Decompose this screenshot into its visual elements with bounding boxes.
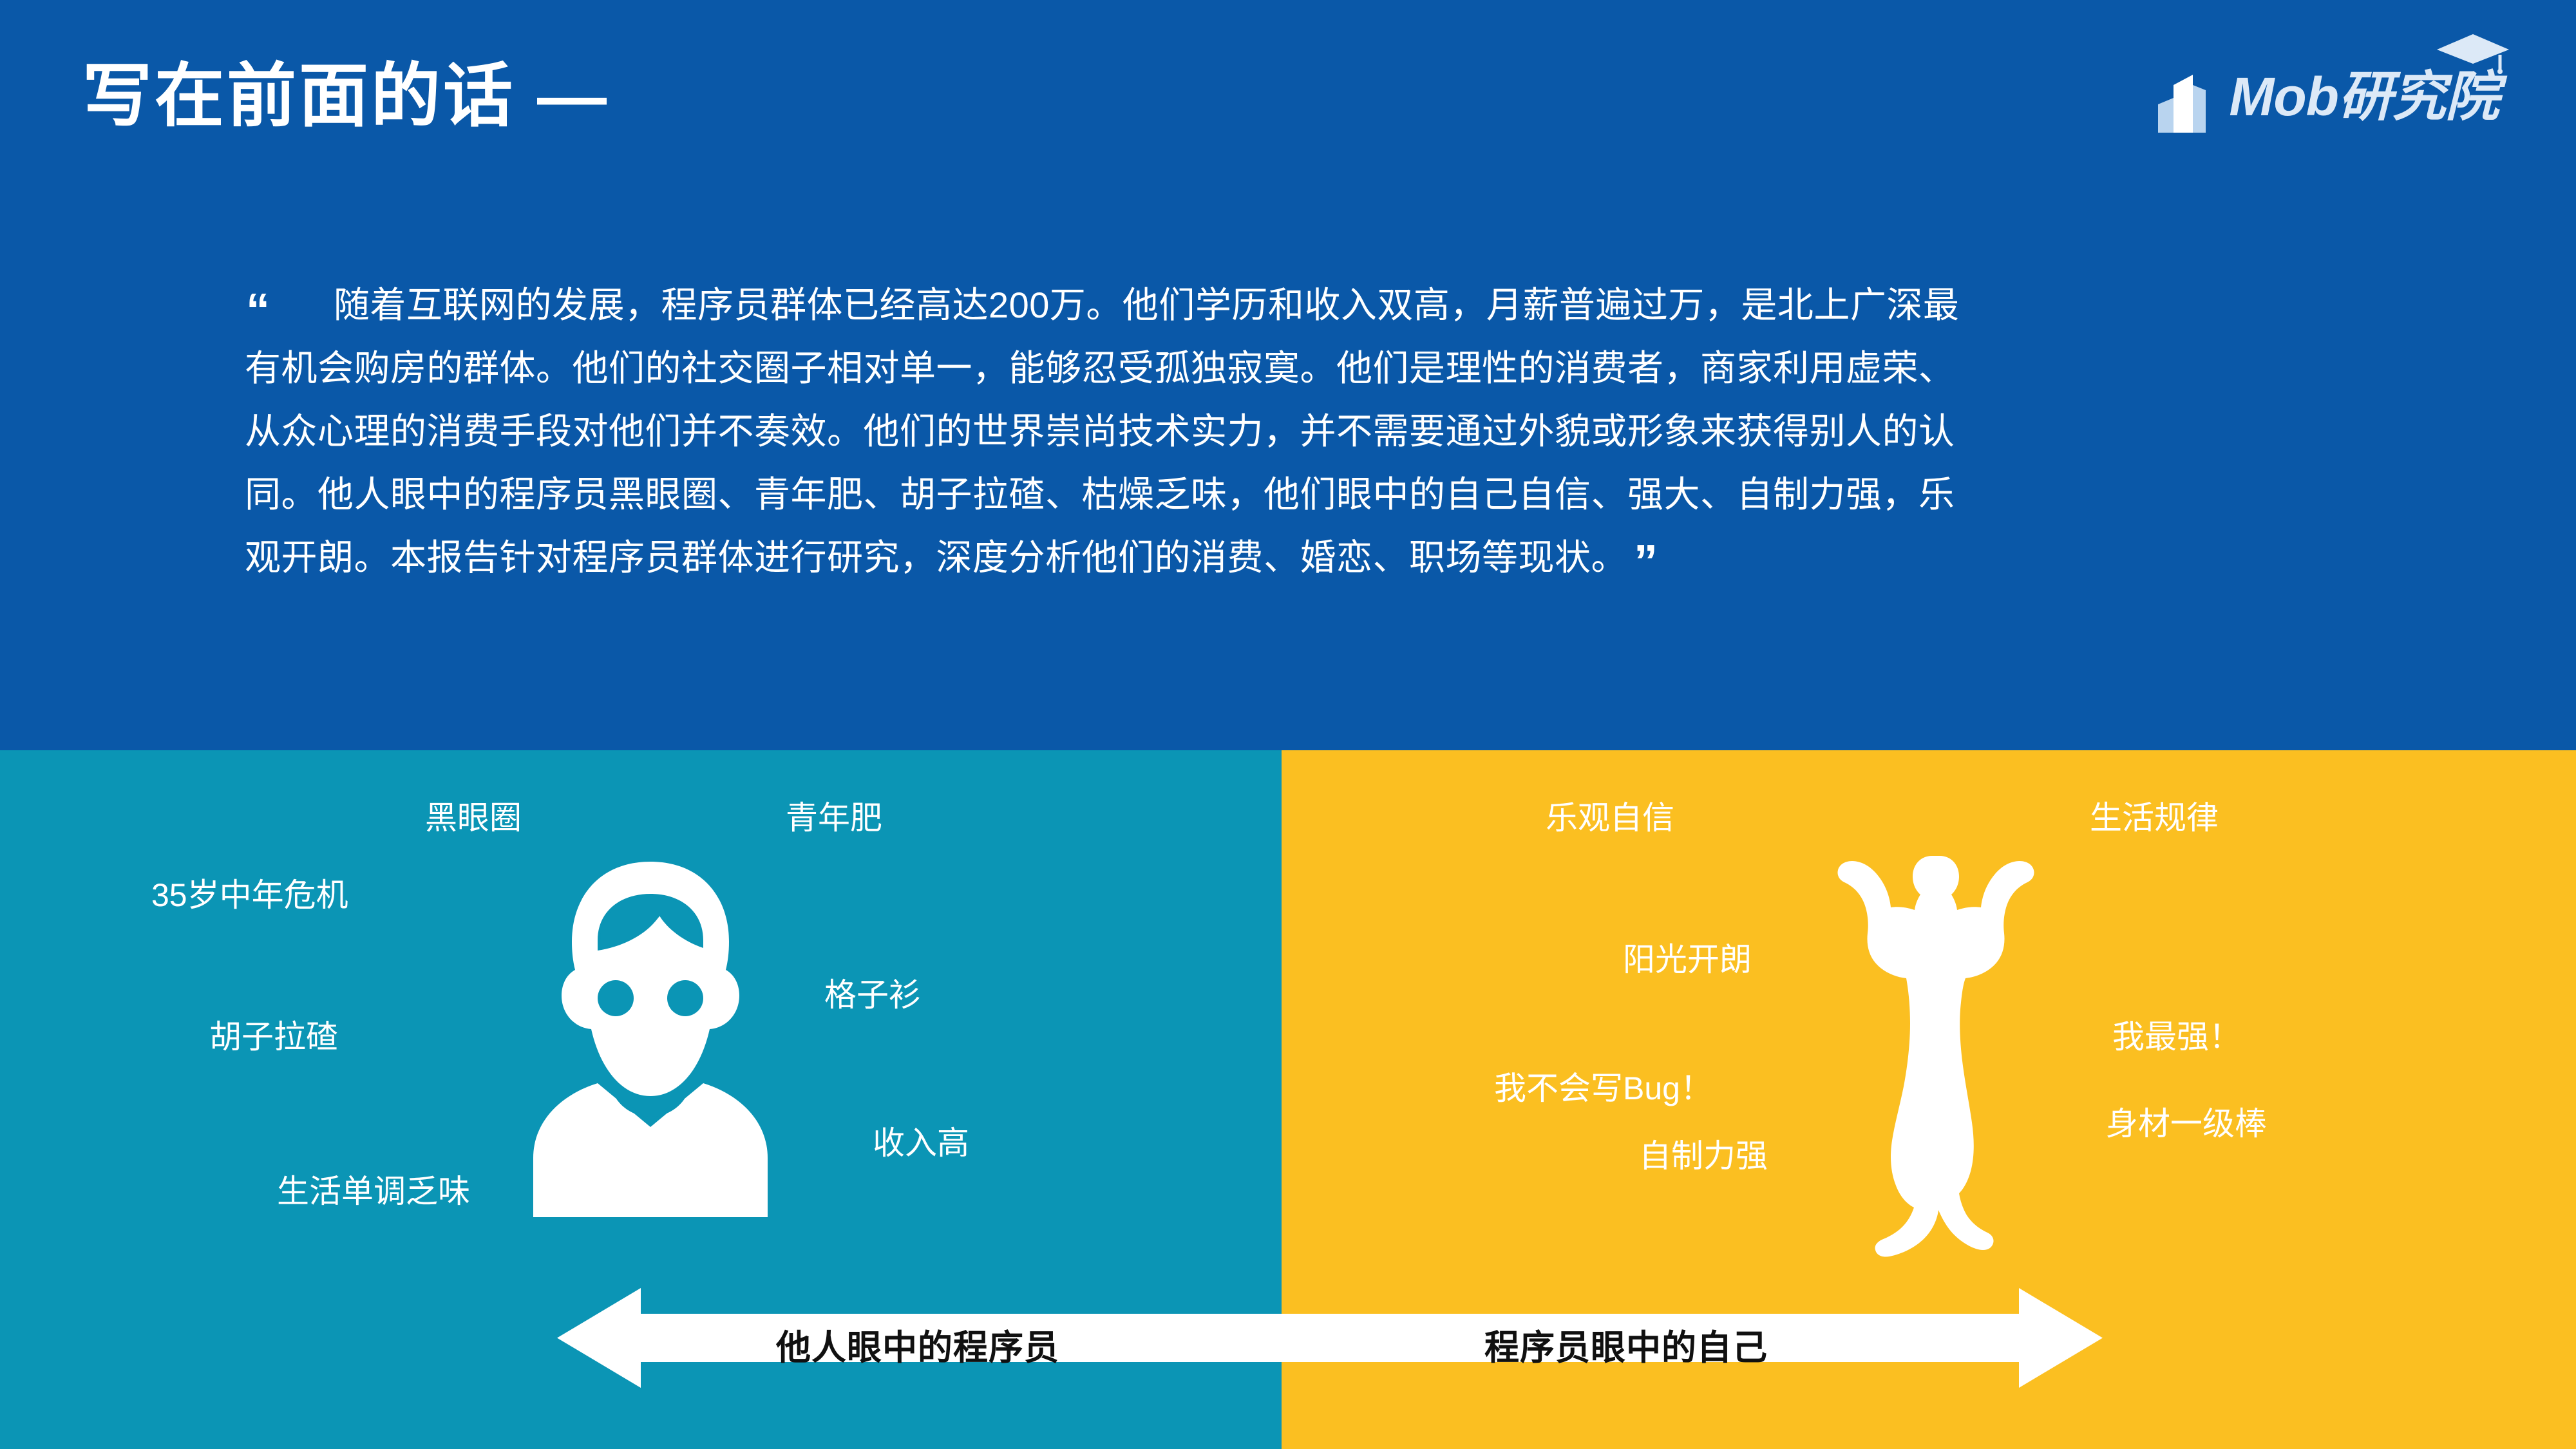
building-icon [2146,61,2219,133]
tag-plaid-shirt: 格子衫 [824,979,921,1011]
logo-text: Mob研究院 [2229,70,2499,124]
brand-logo: Mob研究院 [2146,55,2499,138]
page-title: 写在前面的话 — [82,58,609,135]
graduation-cap-icon [2433,33,2510,74]
tag-youth-fat: 青年肥 [786,802,882,834]
tag-sunny-cheerful: 阳光开朗 [1623,943,1752,976]
quote-line: 有机会购房的群体。他们的社交圈子相对单一，能够忍受孤独寂寞。他们是理性的消费者，… [245,337,2344,400]
quote-close-mark: ” [1634,538,1658,585]
quote-open-mark: “ [246,287,270,334]
tag-high-income: 收入高 [873,1127,969,1159]
programmer-avatar-icon [515,857,786,1217]
quote-line: 从众心理的消费手段对他们并不奏效。他们的世界崇尚技术实力，并不需要通过外貌或形象… [245,400,2344,463]
quote-line-last: 观开朗。本报告针对程序员群体进行研究，深度分析他们的消费、婚恋、职场等现状。” [245,526,2344,589]
bodybuilder-silhouette-icon [1823,847,2041,1272]
quote-line: 观开朗。本报告针对程序员群体进行研究，深度分析他们的消费、婚恋、职场等现状。 [245,537,1627,578]
quote-body: 随着互联网的发展，程序员群体已经高达200万。他们学历和收入双高，月薪普遍过万，… [245,274,2344,589]
tag-optimistic: 乐观自信 [1546,802,1674,834]
quote-line: 同。他人眼中的程序员黑眼圈、青年肥、胡子拉碴、枯燥乏味，他们眼中的自己自信、强大… [245,463,2344,526]
tag-dull-life: 生活单调乏味 [277,1175,470,1207]
arrow-label-self-view: 程序员眼中的自己 [1484,1319,1768,1370]
tag-dark-circles: 黑眼圈 [425,802,522,834]
header-band: 写在前面的话 — Mob研究院 “ 随着互联网的发展，程序员群体已经高达200万… [0,0,2576,750]
tag-stubble: 胡子拉碴 [209,1021,338,1053]
tag-strongest: 我最强！ [2112,1021,2241,1053]
tag-no-bugs: 我不会写Bug！ [1494,1072,1712,1104]
tag-regular-life: 生活规律 [2090,802,2219,834]
tag-self-discipline: 自制力强 [1639,1140,1768,1172]
tag-midlife-crisis-35: 35岁中年危机 [151,879,348,911]
quote-line: 随着互联网的发展，程序员群体已经高达200万。他们学历和收入双高，月薪普遍过万，… [245,274,2344,337]
slide-root: 写在前面的话 — Mob研究院 “ 随着互联网的发展，程序员群体已经高达200万… [0,0,2576,1449]
arrow-label-others-view: 他人眼中的程序员 [776,1319,1059,1370]
intro-quote: “ 随着互联网的发展，程序员群体已经高达200万。他们学历和收入双高，月薪普遍过… [245,274,2344,589]
tag-great-physique: 身材一级棒 [2106,1108,2267,1140]
